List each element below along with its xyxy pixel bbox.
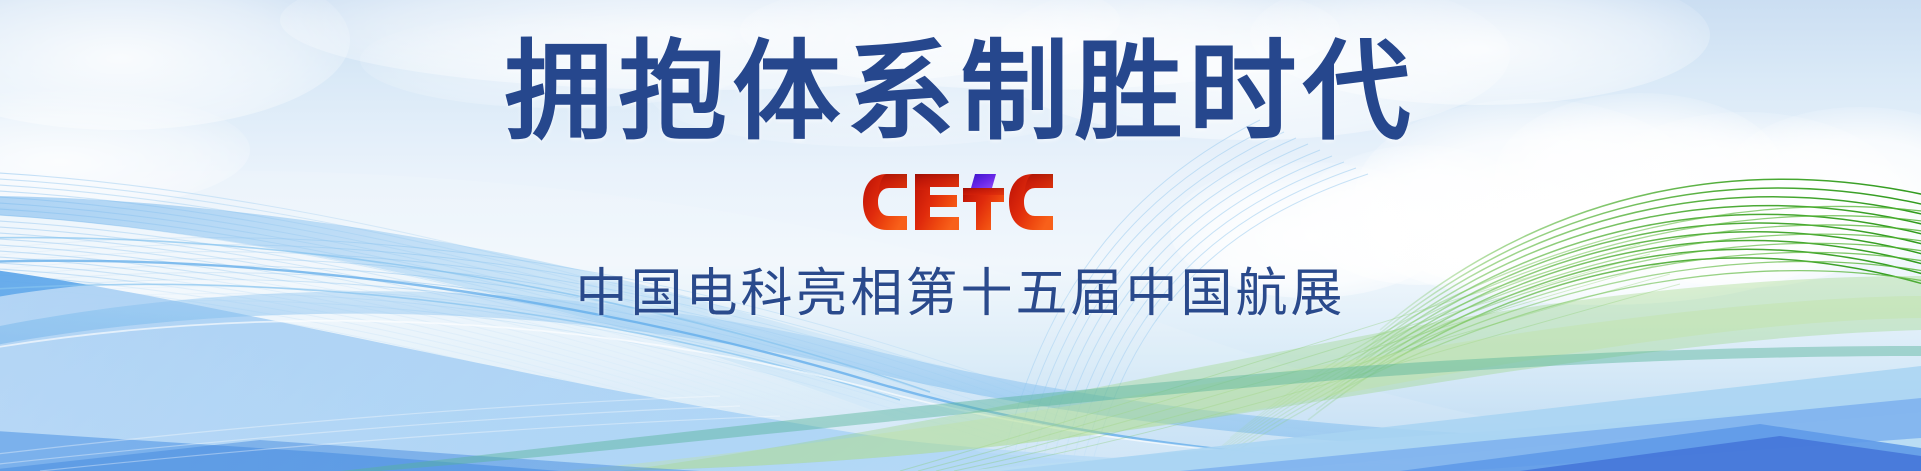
cetc-airshow-banner: 拥抱体系制胜时代 — [0, 0, 1921, 471]
page-title: 拥抱体系制胜时代 — [504, 36, 1416, 149]
cetc-logo — [863, 171, 1059, 233]
logo-accent-shape — [971, 174, 996, 188]
page-subtitle: 中国电科亮相第十五届中国航展 — [575, 251, 1345, 326]
